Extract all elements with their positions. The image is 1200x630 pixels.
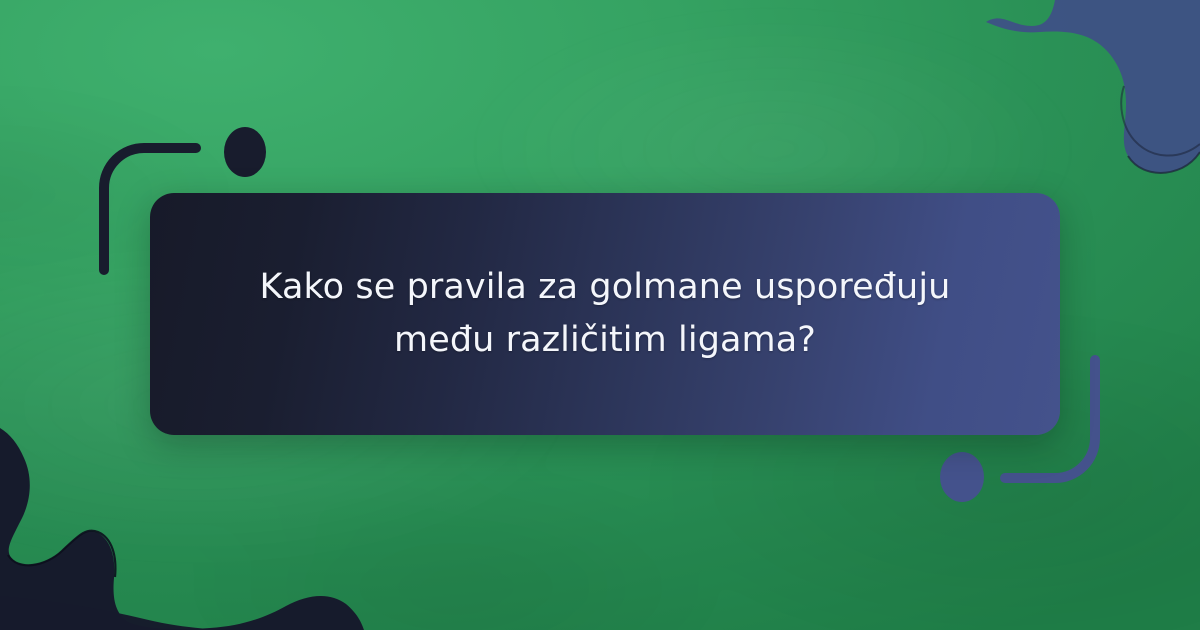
top-left-dot-icon	[224, 127, 266, 177]
question-card: Kako se pravila za golmane uspoređuju me…	[150, 193, 1060, 435]
bottom-right-dot-icon	[940, 452, 984, 502]
question-title: Kako se pravila za golmane uspoređuju me…	[208, 261, 1002, 367]
top-right-blob	[986, 0, 1200, 173]
bottom-left-blob-band	[0, 596, 240, 630]
social-card-canvas: Kako se pravila za golmane uspoređuju me…	[0, 0, 1200, 630]
